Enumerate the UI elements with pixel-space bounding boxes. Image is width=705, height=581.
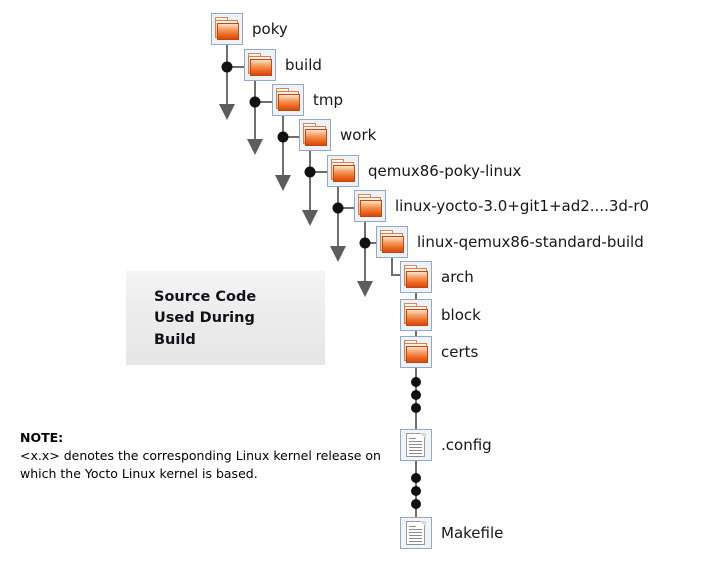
- tree-node-block[interactable]: block: [400, 299, 481, 331]
- folder-icon: [327, 155, 359, 187]
- connector-lines: [0, 0, 705, 581]
- tree-node-arch[interactable]: arch: [400, 261, 474, 293]
- folder-icon: [400, 261, 432, 293]
- tree-node-label: certs: [441, 345, 478, 360]
- folder-icon: [244, 49, 276, 81]
- folder-icon: [272, 84, 304, 116]
- tree-node-config-file[interactable]: .config: [400, 429, 492, 461]
- note-title: NOTE:: [20, 430, 385, 447]
- tree-node-label: arch: [441, 270, 474, 285]
- directory-tree-diagram: poky build tmp work qemux86-poky-linux l…: [0, 0, 705, 581]
- tree-node-poky[interactable]: poky: [211, 13, 288, 45]
- folder-icon: [400, 299, 432, 331]
- tree-node-label: Makefile: [441, 526, 503, 541]
- callout-text: Source Code Used During Build: [154, 287, 256, 351]
- folder-icon: [299, 119, 331, 151]
- tree-node-work[interactable]: work: [299, 119, 376, 151]
- tree-node-label: linux-qemux86-standard-build: [417, 235, 644, 250]
- tree-node-certs[interactable]: certs: [400, 336, 478, 368]
- tree-node-tmp[interactable]: tmp: [272, 84, 343, 116]
- document-icon: [400, 517, 432, 549]
- tree-node-makefile[interactable]: Makefile: [400, 517, 503, 549]
- document-icon: [400, 429, 432, 461]
- source-code-callout: Source Code Used During Build: [126, 271, 325, 365]
- tree-node-linux-yocto[interactable]: linux-yocto-3.0+git1+ad2....3d-r0: [354, 190, 649, 222]
- folder-icon: [400, 336, 432, 368]
- folder-icon: [354, 190, 386, 222]
- tree-node-qemux86-poky-linux[interactable]: qemux86-poky-linux: [327, 155, 521, 187]
- tree-node-linux-qemux86-standard-build[interactable]: linux-qemux86-standard-build: [376, 226, 644, 258]
- tree-node-label: build: [285, 58, 322, 73]
- tree-node-label: poky: [252, 22, 288, 37]
- folder-icon: [376, 226, 408, 258]
- tree-node-label: tmp: [313, 93, 343, 108]
- tree-node-label: work: [340, 128, 376, 143]
- tree-node-build[interactable]: build: [244, 49, 322, 81]
- note-body: <x.x> denotes the corresponding Linux ke…: [20, 447, 385, 483]
- note-block: NOTE: <x.x> denotes the corresponding Li…: [20, 430, 385, 482]
- tree-node-label: .config: [441, 438, 492, 453]
- folder-icon: [211, 13, 243, 45]
- tree-node-label: linux-yocto-3.0+git1+ad2....3d-r0: [395, 199, 649, 214]
- tree-node-label: block: [441, 308, 481, 323]
- tree-node-label: qemux86-poky-linux: [368, 164, 521, 179]
